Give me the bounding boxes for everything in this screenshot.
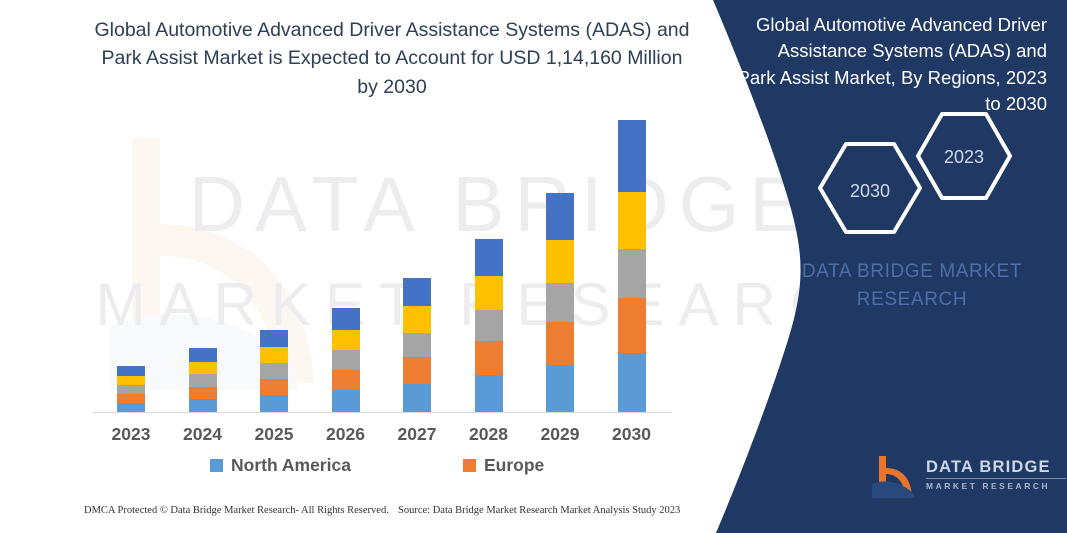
bar-2030[interactable] [618, 120, 646, 412]
bar-segment [260, 330, 288, 348]
bar-segment [403, 278, 431, 307]
bar-segment [117, 403, 145, 412]
footer-copyright: DMCA Protected © Data Bridge Market Rese… [84, 505, 389, 516]
bar-segment [332, 370, 360, 391]
x-tick-2030: 2030 [596, 424, 668, 445]
legend-label: North America [231, 455, 351, 476]
bar-segment [117, 385, 145, 393]
bar-segment [618, 298, 646, 353]
bar-segment [546, 365, 574, 412]
bar-segment [475, 276, 503, 310]
hexagon-2030-label: 2030 [810, 182, 930, 200]
bar-2023[interactable] [117, 366, 145, 412]
footer: DMCA Protected © Data Bridge Market Rese… [0, 505, 700, 529]
x-tick-2024: 2024 [167, 424, 239, 445]
bar-segment [475, 239, 503, 276]
legend-label: Europe [484, 455, 544, 476]
right-panel: Global Automotive Advanced Driver Assist… [712, 0, 1067, 533]
bar-2028[interactable] [475, 239, 503, 412]
bar-segment [403, 306, 431, 332]
bar-segment [189, 348, 217, 362]
bar-segment [189, 362, 217, 374]
bar-segment [117, 366, 145, 376]
legend-swatch-icon [463, 459, 476, 472]
x-tick-2026: 2026 [310, 424, 382, 445]
bar-segment [260, 395, 288, 412]
bar-segment [117, 394, 145, 403]
bar-segment [618, 353, 646, 412]
legend-item-europe[interactable]: Europe [463, 455, 544, 476]
bar-segment [189, 399, 217, 412]
brand-divider [926, 478, 1066, 479]
chart-plot-area [92, 120, 672, 413]
bar-segment [260, 347, 288, 363]
bar-segment [332, 350, 360, 369]
chart-legend: North AmericaEurope [92, 455, 672, 483]
bar-segment [332, 308, 360, 330]
x-tick-2028: 2028 [453, 424, 525, 445]
bar-segment [403, 357, 431, 383]
bar-segment [475, 375, 503, 412]
bar-segment [332, 330, 360, 350]
bar-segment [618, 249, 646, 298]
bar-2026[interactable] [332, 308, 360, 412]
bar-segment [546, 240, 574, 283]
bar-segment [403, 384, 431, 413]
x-tick-2027: 2027 [381, 424, 453, 445]
x-axis-line [92, 412, 672, 413]
panel-title: Global Automotive Advanced Driver Assist… [735, 12, 1047, 117]
bar-segment [117, 376, 145, 385]
chart-title: Global Automotive Advanced Driver Assist… [92, 16, 692, 101]
bar-segment [618, 120, 646, 192]
bar-segment [260, 379, 288, 395]
x-axis-labels: 20232024202520262027202820292030 [92, 424, 672, 450]
footer-source: Source: Data Bridge Market Research Mark… [398, 505, 680, 516]
bar-2027[interactable] [403, 278, 431, 412]
brand-mark-icon [870, 454, 918, 500]
x-tick-2029: 2029 [524, 424, 596, 445]
brand-line-1: DATA BRIDGE [926, 458, 1067, 476]
panel-brand-watermark: DATA BRIDGE MARKET RESEARCH [772, 258, 1052, 313]
bar-segment [475, 310, 503, 341]
x-tick-2023: 2023 [95, 424, 167, 445]
brand-wordmark: DATA BRIDGE MARKET RESEARCH [926, 458, 1067, 491]
bar-2029[interactable] [546, 193, 574, 412]
infographic-canvas: DATA BRIDGE MARKET RESEARCH Global Autom… [0, 0, 1067, 533]
bar-2025[interactable] [260, 330, 288, 412]
bar-segment [189, 374, 217, 386]
bar-segment [546, 283, 574, 322]
bar-2024[interactable] [189, 348, 217, 412]
bar-segment [475, 341, 503, 375]
bar-segment [546, 322, 574, 365]
bar-segment [618, 192, 646, 250]
bar-segment [403, 333, 431, 358]
hexagon-badges: 2023 2030 [810, 108, 1020, 212]
brand-logo: DATA BRIDGE MARKET RESEARCH [870, 452, 1067, 504]
legend-swatch-icon [210, 459, 223, 472]
bar-segment [189, 387, 217, 399]
bar-segment [260, 363, 288, 378]
x-tick-2025: 2025 [238, 424, 310, 445]
legend-item-north-america[interactable]: North America [210, 455, 351, 476]
bar-segment [546, 193, 574, 240]
brand-line-2: MARKET RESEARCH [926, 482, 1067, 491]
bar-segment [332, 390, 360, 412]
